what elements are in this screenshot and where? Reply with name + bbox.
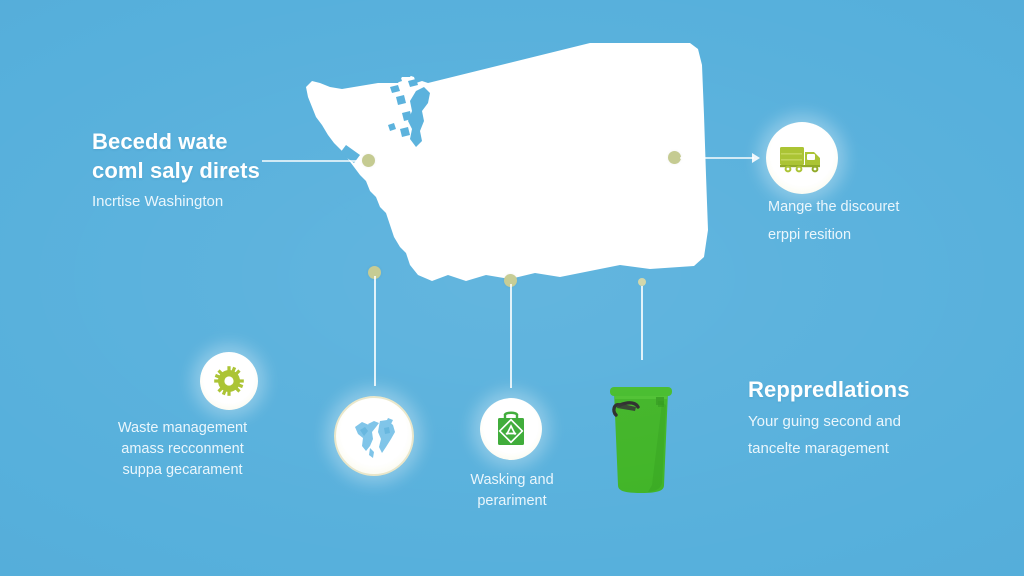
callout-right-bottom: Reppredlations Your guing second and tan… <box>748 376 948 460</box>
connector-dot-left-top <box>362 154 375 167</box>
callout-left-top: Becedd wate coml saly direts Incrtise Wa… <box>92 128 277 213</box>
callout-mid-bottom-sub-2: perariment <box>428 491 596 512</box>
gear-icon <box>213 365 245 397</box>
callout-right-top: Mange the discouret erppi resition <box>768 190 958 246</box>
connector-dot-bin <box>638 278 646 286</box>
callout-left-top-sub-1: Incrtise Washington <box>92 192 277 213</box>
callout-left-bottom-sub-1: Waste management <box>85 418 280 439</box>
callout-right-top-sub-1: Mange the discouret <box>768 197 958 218</box>
callout-right-top-sub-2: erppi resition <box>768 225 958 246</box>
callout-mid-bottom-sub-1: Wasking and <box>428 470 596 491</box>
truck-icon <box>779 142 825 174</box>
washington-state-map <box>290 25 720 290</box>
truck-icon-badge[interactable] <box>766 122 838 194</box>
recycle-bag-icon-badge[interactable] <box>480 398 542 460</box>
recycle-bag-icon <box>494 410 528 448</box>
callout-left-bottom-sub-3: suppa gecarament <box>85 460 280 481</box>
connector-right-top <box>680 157 754 159</box>
callout-right-bottom-sub-2: tancelte maragement <box>748 439 948 460</box>
callout-right-bottom-sub-1: Your guing second and <box>748 412 948 433</box>
connector-bin <box>641 286 643 360</box>
callout-mid-bottom: Wasking and perariment <box>428 470 596 512</box>
callout-right-bottom-heading-1: Reppredlations <box>748 376 948 405</box>
green-bin-icon[interactable] <box>602 375 680 495</box>
callout-left-bottom-sub-2: amass recconment <box>85 439 280 460</box>
connector-recycle-bag <box>510 284 512 388</box>
arrow-right-icon <box>752 153 760 163</box>
globe-icon-badge[interactable] <box>334 396 414 476</box>
infographic-canvas: Becedd wate coml saly direts Incrtise Wa… <box>0 0 1024 576</box>
callout-left-top-heading-1: Becedd wate <box>92 128 277 157</box>
gear-icon-badge[interactable] <box>200 352 258 410</box>
connector-left-top <box>262 160 368 162</box>
callout-left-bottom: Waste management amass recconment suppa … <box>85 418 280 481</box>
connector-globe <box>374 276 376 386</box>
callout-left-top-heading-2: coml saly direts <box>92 157 277 186</box>
globe-icon <box>346 408 402 464</box>
